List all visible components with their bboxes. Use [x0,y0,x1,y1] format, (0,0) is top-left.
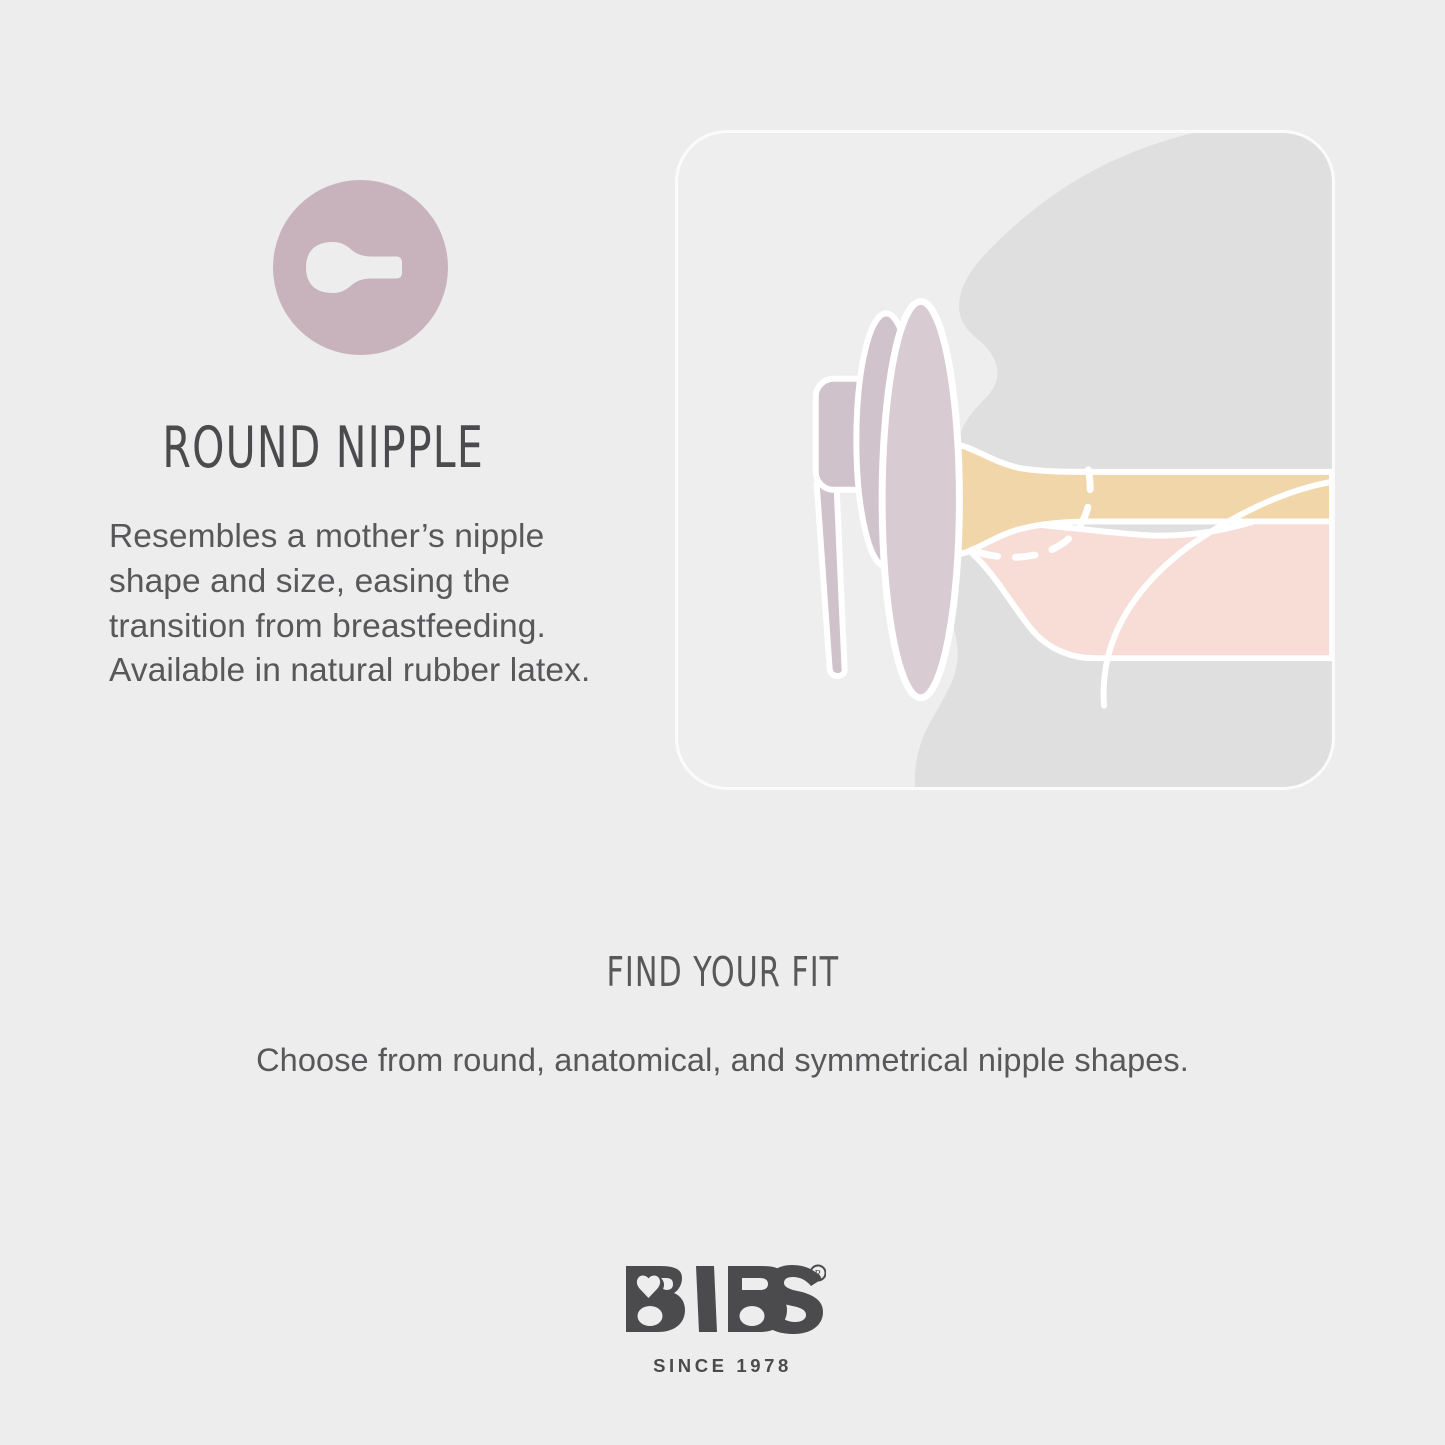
pacifier-shield [882,301,959,697]
bibs-wordmark: R [620,1262,826,1341]
brand-tagline: SINCE 1978 [0,1355,1445,1377]
feature-column: ROUND NIPPLE Resembles a mother’s nipple… [0,180,640,694]
feature-description: Resembles a mother’s nipple shape and si… [0,515,619,695]
round-nipple-shape-icon-svg [273,180,448,355]
illustration-panel [675,130,1335,790]
round-nipple-shape-icon [273,180,448,355]
bibs-wordmark-svg: R [620,1262,826,1336]
product-feature-card: ROUND NIPPLE Resembles a mother’s nipple… [0,0,1445,1445]
find-your-fit-subtitle: Choose from round, anatomical, and symme… [0,1042,1445,1079]
find-your-fit-title: FIND YOUR FIT [0,948,1445,996]
svg-text:R: R [814,1269,821,1280]
baby-profile-with-pacifier-illustration [678,133,1332,787]
find-your-fit-title-text: FIND YOUR FIT [606,948,839,996]
brand-logo: R SINCE 1978 [0,1262,1445,1377]
feature-title: ROUND NIPPLE [0,419,512,479]
